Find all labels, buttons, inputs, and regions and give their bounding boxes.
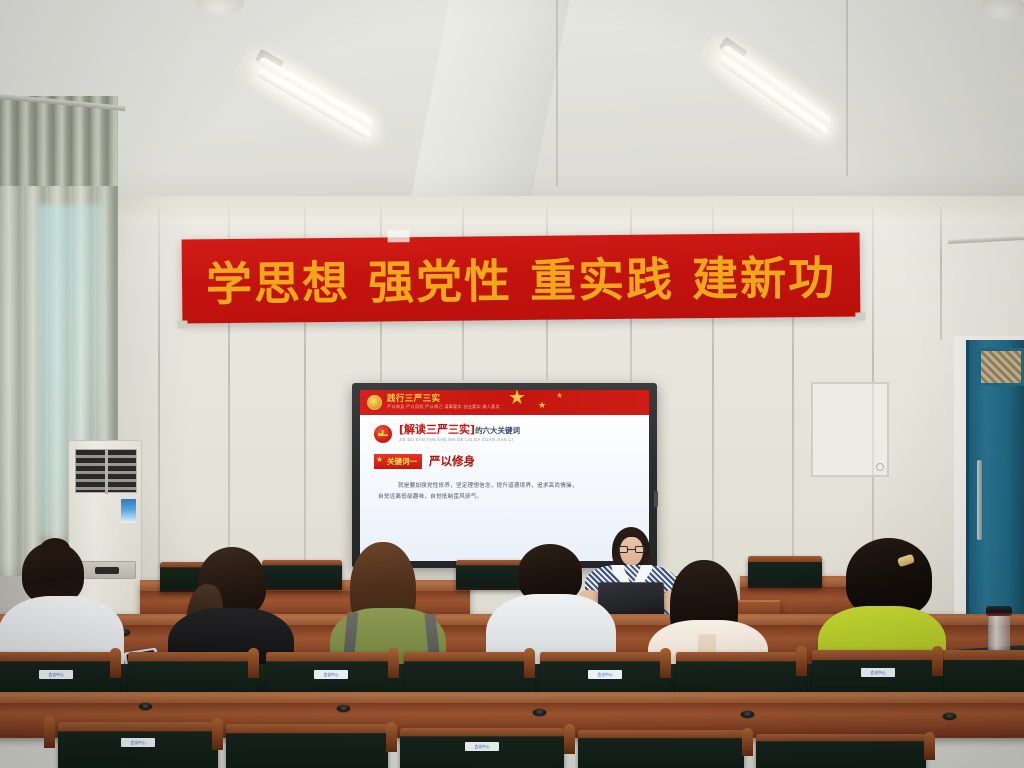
chair-crest: [266, 652, 396, 661]
chair[interactable]: 会议中心: [400, 728, 564, 768]
chair-armrest: [796, 646, 807, 676]
fluorescent-tube: [258, 56, 375, 129]
seat-label-text: 会议中心: [870, 670, 885, 676]
chair-armrest: [44, 716, 55, 748]
chair-crest: [676, 652, 806, 661]
ac-vent-grille: [75, 449, 137, 493]
chair-crest: [748, 556, 822, 562]
keyword-badge: 关键词一: [374, 454, 422, 469]
door-handle[interactable]: [977, 460, 982, 540]
national-emblem-icon: [367, 395, 382, 410]
conference-room-photo: 学思想 强党性 重实践 建新功 践行三严三实 严以修身 严以用权 严以律己 谋事…: [0, 0, 1024, 768]
seat-label: 会议中心: [39, 670, 73, 679]
seat-label-text: 会议中心: [48, 672, 63, 678]
chair[interactable]: 会议中心: [58, 722, 218, 768]
banner-slogan-text: 学思想 强党性 重实践 建新功: [206, 242, 837, 315]
chair-armrest: [110, 648, 121, 678]
slide-paragraph-line-1: 就是要加强党性修养，坚定理想信念，提升道德境界，追求高尚情操，: [378, 481, 631, 492]
slide-header-texts: 践行三严三实 严以修身 严以用权 严以律己 谋事要实 创业要实 做人要实: [387, 395, 500, 409]
chair-crest: [0, 652, 120, 661]
chair-crest: [262, 560, 342, 565]
wall-panel-seam: [940, 206, 942, 340]
seat-label: 会议中心: [861, 668, 895, 677]
slide-title-row: [解读三严三实]的六大关键词 JIE DU SAN YAN SAN SHI DE…: [374, 424, 635, 443]
cable-grommet: [336, 704, 351, 713]
ceiling-seam: [846, 0, 848, 176]
fluorescent-tube: [255, 68, 372, 141]
chair-armrest: [212, 718, 223, 750]
chair-armrest: [388, 648, 399, 678]
chair[interactable]: [748, 556, 822, 588]
slide-title: [解读三严三实]的六大关键词: [399, 424, 520, 436]
chair-armrest: [660, 648, 671, 678]
cable-grommet: [740, 710, 755, 719]
chair-crest: [58, 722, 218, 731]
cable-grommet: [942, 712, 957, 721]
chair-armrest: [386, 722, 397, 752]
chair[interactable]: [756, 734, 926, 768]
wall-access-panel: [811, 382, 889, 477]
seat-label-text: 会议中心: [597, 672, 612, 678]
star-icon: ★: [508, 390, 526, 408]
ac-control-panel[interactable]: [76, 561, 136, 579]
party-emblem-icon: [374, 425, 392, 443]
chair-armrest: [524, 648, 535, 678]
slide-title-suffix: 的六大关键词: [475, 426, 520, 435]
chair-crest: [944, 650, 1024, 660]
slide-header-title: 践行三严三实: [387, 395, 500, 404]
slide-body: [解读三严三实]的六大关键词 JIE DU SAN YAN SAN SHI DE…: [360, 415, 649, 561]
slide-header-subtitle: 严以修身 严以用权 严以律己 谋事要实 创业要实 做人要实: [387, 405, 500, 409]
chair-crest: [128, 652, 258, 661]
banner-tape: [387, 230, 409, 242]
seat-label: 会议中心: [314, 670, 348, 679]
attendee-hair: [846, 538, 932, 616]
chair-crest: [578, 730, 744, 738]
chair-crest: [400, 728, 564, 736]
star-icon: ★: [556, 392, 563, 400]
chair-crest: [540, 652, 670, 661]
curtain-pleats: [0, 96, 118, 186]
slide-title-pinyin: JIE DU SAN YAN SAN SHI DE LIU DA GUAN JI…: [399, 438, 520, 443]
chair[interactable]: [578, 730, 744, 768]
display-power-button[interactable]: [654, 491, 658, 507]
glasses-bridge: [628, 549, 635, 550]
eyeglasses-icon: [618, 546, 645, 553]
glasses-lens: [618, 546, 628, 553]
desk-surface: [0, 694, 1024, 703]
seat-label: 会议中心: [588, 670, 622, 679]
slide-paragraph-line-2: 自觉远离低级趣味，自觉抵制歪风邪气。: [378, 494, 482, 500]
ceiling-dome-light: [196, 0, 244, 16]
attendee-hair-bun: [40, 538, 70, 560]
slide-paragraph: 就是要加强党性修养，坚定理想信念，提升道德境界，追求高尚情操， 自觉远离低级趣味…: [374, 481, 635, 503]
seat-label-text: 会议中心: [323, 672, 338, 678]
chair-crest: [226, 724, 388, 733]
energy-label: [121, 499, 136, 523]
seat-label-text: 会议中心: [130, 740, 145, 746]
cable-grommet: [532, 708, 547, 717]
display-screen: 践行三严三实 严以修身 严以用权 严以律己 谋事要实 创业要实 做人要实 ★ ★…: [360, 390, 649, 561]
chair-armrest: [932, 646, 943, 676]
chair-crest: [756, 734, 926, 741]
fluorescent-tube: [718, 55, 830, 137]
presentation-display[interactable]: 践行三严三实 严以修身 严以用权 严以律己 谋事要实 创业要实 做人要实 ★ ★…: [352, 383, 657, 568]
chair-armrest: [564, 724, 575, 754]
slide-keyword-row: 关键词一 严以修身: [374, 453, 635, 469]
fluorescent-tube: [721, 44, 833, 126]
chair-crest: [404, 652, 534, 661]
slide-header-banner: 践行三严三实 严以修身 严以用权 严以律己 谋事要实 创业要实 做人要实 ★ ★…: [360, 390, 649, 415]
chair-armrest: [924, 732, 935, 760]
seat-label-text: 会议中心: [474, 744, 489, 750]
slide-title-main: [解读三严三实]: [399, 423, 475, 436]
ceiling-seam: [556, 0, 558, 186]
thermos-lid[interactable]: [986, 606, 1012, 616]
ceiling-dome-light: [980, 0, 1024, 20]
seat-label: 会议中心: [121, 738, 155, 747]
glasses-lens: [635, 546, 645, 553]
wall-banner: 学思想 强党性 重实践 建新功: [182, 232, 861, 323]
chair[interactable]: [226, 724, 388, 768]
banner-clip: [177, 320, 187, 328]
star-icon: ★: [538, 401, 546, 410]
chair-armrest: [248, 648, 259, 678]
door-window: [978, 348, 1024, 386]
cable-grommet: [138, 702, 153, 711]
chair[interactable]: [262, 560, 342, 590]
slide-title-block: [解读三严三实]的六大关键词 JIE DU SAN YAN SAN SHI DE…: [399, 424, 520, 443]
chair-crest: [812, 650, 944, 660]
seat-label: 会议中心: [465, 742, 499, 751]
banner-clip: [855, 312, 865, 320]
keyword-title: 严以修身: [429, 453, 475, 469]
chair-armrest: [742, 728, 753, 756]
